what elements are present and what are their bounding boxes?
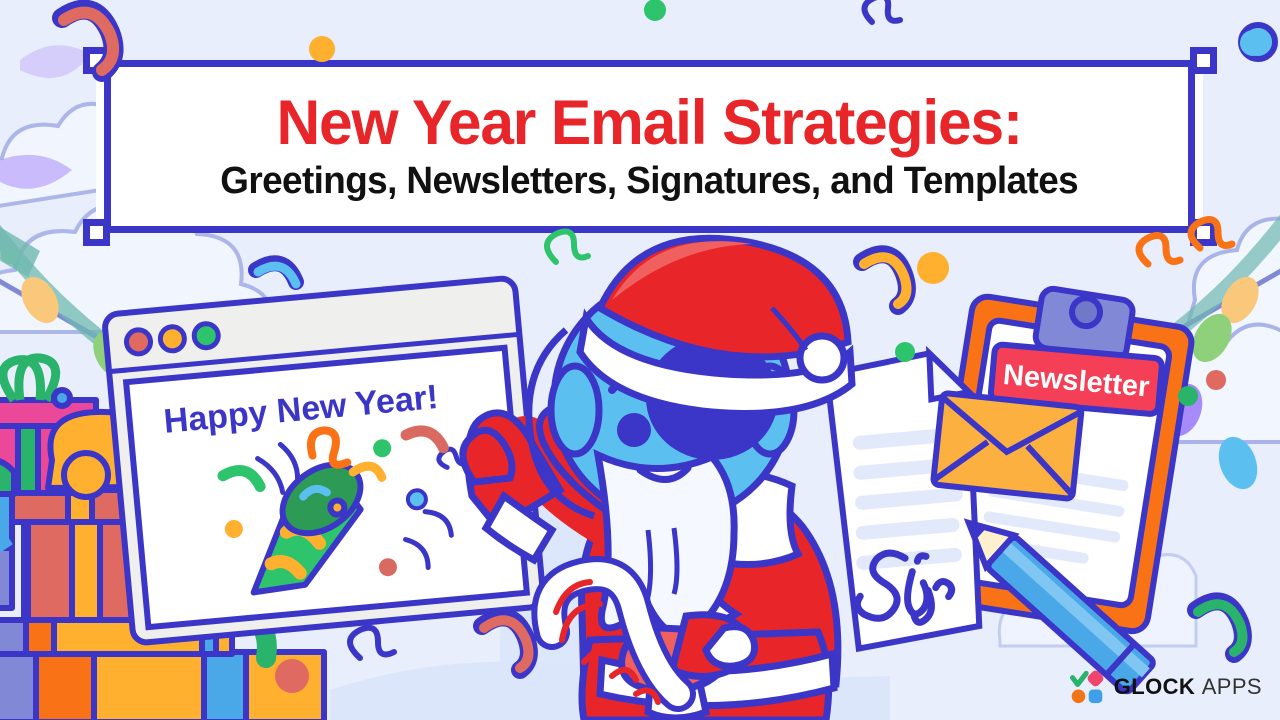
clipboard-clip-ring xyxy=(1070,296,1102,328)
mascot-nose-dot xyxy=(617,413,651,447)
illustration-layer: Happy New Year! xyxy=(0,0,1280,720)
brand-name: GLOCK APPS xyxy=(1114,674,1262,700)
santa-hat-pompom xyxy=(800,336,844,380)
poster-canvas: New Year Email Strategies: Greetings, Ne… xyxy=(0,0,1280,720)
glockapps-logo-mark xyxy=(1070,670,1104,704)
beard-crease-2 xyxy=(674,528,677,594)
brand-name-bold: GLOCK xyxy=(1114,674,1195,699)
brand-logo[interactable]: GLOCK APPS xyxy=(1070,670,1262,704)
close-dot[interactable] xyxy=(125,329,151,355)
circle-icon xyxy=(1071,690,1085,704)
headphone-left-cup[interactable] xyxy=(551,366,599,454)
envelope-icon[interactable] xyxy=(933,393,1082,499)
check-icon xyxy=(1072,673,1086,684)
brand-name-light: APPS xyxy=(1202,674,1262,699)
minimize-dot[interactable] xyxy=(159,326,185,352)
santa-robot-mascot[interactable] xyxy=(463,238,852,720)
maximize-dot[interactable] xyxy=(193,323,219,349)
square-icon xyxy=(1088,690,1102,704)
